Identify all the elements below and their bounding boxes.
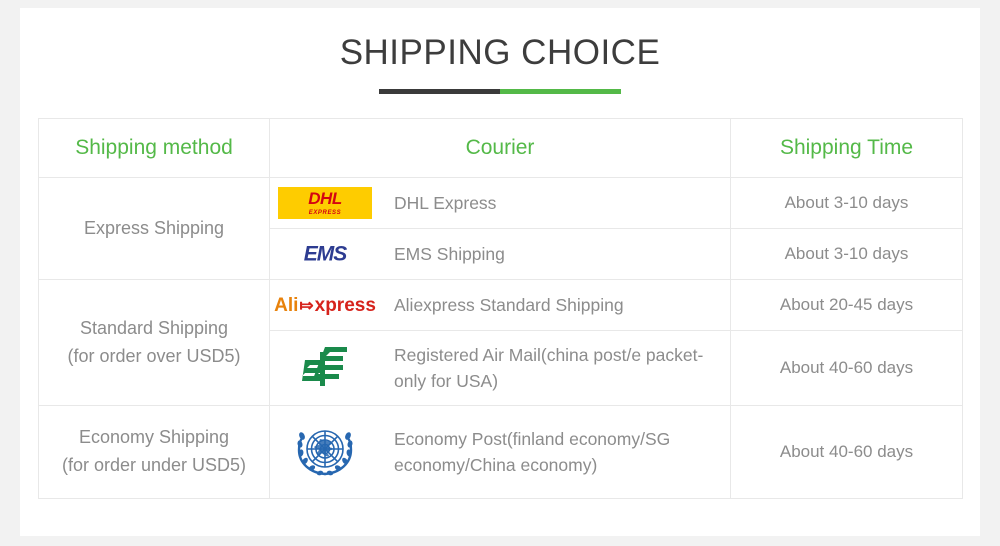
method-standard-note: (for order over USD5) <box>39 343 269 371</box>
ems-logo-stripes-left <box>277 243 307 263</box>
shipping-table: Shipping method Courier Shipping Time Ex… <box>38 118 963 499</box>
method-economy-name: Economy Shipping <box>39 424 269 452</box>
title-underline-dark <box>379 89 500 94</box>
aliexpress-logo: Ali ⤇ xpress <box>270 296 380 315</box>
courier-cell-aliexpress: Ali ⤇ xpress Aliexpress Standard Shippin… <box>270 280 731 331</box>
dhl-logo-sub: EXPRESS <box>278 210 372 216</box>
courier-cell-air-mail: Registered Air Mail(china post/e packet-… <box>270 331 731 406</box>
table-row: Express Shipping DHL EXPRESS DHL Express <box>39 178 963 229</box>
courier-name-aliexpress: Aliexpress Standard Shipping <box>394 292 624 318</box>
ems-logo: EMS <box>270 237 380 271</box>
shipping-table-wrap: Shipping method Courier Shipping Time Ex… <box>38 118 962 499</box>
shipping-choice-card: SHIPPING CHOICE Shipping method Courier … <box>20 8 980 536</box>
shipping-time-aliexpress: About 20-45 days <box>731 280 963 331</box>
ems-logo-stripes-right <box>343 243 373 263</box>
shipping-time-air-mail: About 40-60 days <box>731 331 963 406</box>
courier-name-air-mail: Registered Air Mail(china post/e packet-… <box>394 342 730 395</box>
table-header-row: Shipping method Courier Shipping Time <box>39 119 963 178</box>
courier-cell-ems: EMS EMS Shipping <box>270 229 731 280</box>
aliexpress-logo-ali: Ali <box>274 296 298 315</box>
united-nations-logo <box>270 423 380 481</box>
courier-cell-dhl: DHL EXPRESS DHL Express <box>270 178 731 229</box>
shopping-cart-icon: ⤇ <box>299 297 313 314</box>
header-courier: Courier <box>270 119 731 178</box>
aliexpress-logo-xpress: xpress <box>315 296 376 315</box>
header-shipping-method: Shipping method <box>39 119 270 178</box>
courier-name-economy-post: Economy Post(finland economy/SG economy/… <box>394 426 730 479</box>
method-economy-note: (for order under USD5) <box>39 452 269 480</box>
shipping-time-economy-post: About 40-60 days <box>731 406 963 499</box>
dhl-logo-word: DHL <box>278 190 372 207</box>
ems-logo-word: EMS <box>304 244 347 265</box>
title-underline <box>379 89 621 94</box>
method-express-shipping: Express Shipping <box>39 178 270 280</box>
header-shipping-time: Shipping Time <box>731 119 963 178</box>
china-post-logo <box>270 344 380 392</box>
page-title: SHIPPING CHOICE <box>20 34 980 73</box>
shipping-time-ems: About 3-10 days <box>731 229 963 280</box>
method-standard-shipping: Standard Shipping (for order over USD5) <box>39 280 270 406</box>
method-economy-shipping: Economy Shipping (for order under USD5) <box>39 406 270 499</box>
courier-cell-economy-post: Economy Post(finland economy/SG economy/… <box>270 406 731 499</box>
shipping-time-dhl: About 3-10 days <box>731 178 963 229</box>
courier-name-dhl: DHL Express <box>394 190 496 216</box>
united-nations-emblem-icon <box>294 423 356 481</box>
table-row: Economy Shipping (for order under USD5) <box>39 406 963 499</box>
table-row: Standard Shipping (for order over USD5) … <box>39 280 963 331</box>
title-underline-green <box>500 89 621 94</box>
china-post-emblem-icon <box>299 344 351 392</box>
method-express-name: Express Shipping <box>39 215 269 243</box>
method-standard-name: Standard Shipping <box>39 315 269 343</box>
dhl-logo: DHL EXPRESS <box>270 187 380 219</box>
title-block: SHIPPING CHOICE <box>20 8 980 94</box>
courier-name-ems: EMS Shipping <box>394 241 505 267</box>
